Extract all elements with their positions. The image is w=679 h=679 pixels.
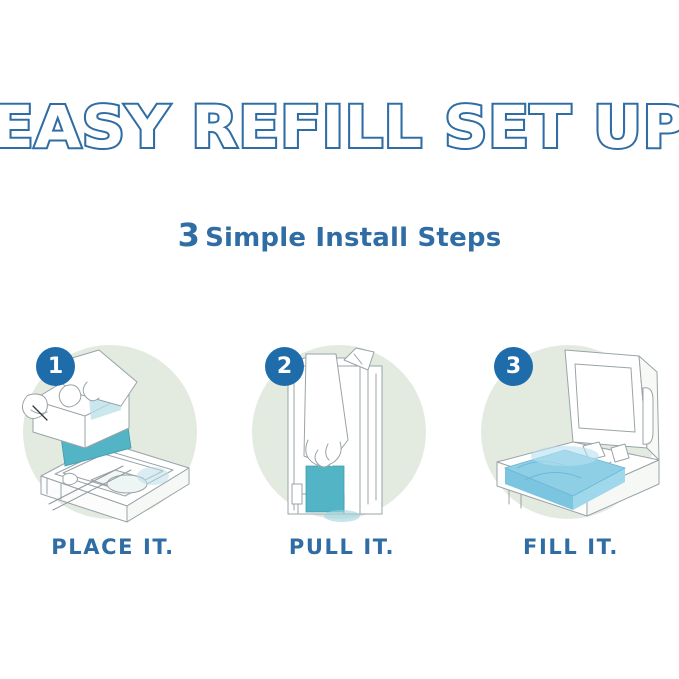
page-subtitle-container: 3Simple Install Steps — [0, 216, 679, 254]
step-count: 3 — [178, 216, 200, 254]
page-subtitle-text: Simple Install Steps — [205, 223, 501, 253]
step-card-2: 2 PULL IT. — [232, 344, 452, 584]
steps-row: 1 PLACE IT. — [0, 344, 679, 584]
step-2-caption: PULL IT. — [232, 535, 452, 559]
step-1-number-badge: 1 — [36, 347, 75, 386]
page-title-container: EASY REFILL SET UP — [0, 98, 679, 156]
step-3-number-badge: 3 — [494, 347, 533, 386]
step-card-3: 3 FILL IT. — [461, 344, 679, 584]
step-card-1: 1 PLACE IT. — [3, 344, 223, 584]
step-1-caption: PLACE IT. — [3, 535, 223, 559]
step-3-caption: FILL IT. — [461, 535, 679, 559]
page-title: EASY REFILL SET UP — [0, 98, 679, 156]
step-2-number-badge: 2 — [265, 347, 304, 386]
pull-tab-teal — [306, 466, 344, 512]
page-subtitle: 3Simple Install Steps — [178, 216, 502, 254]
